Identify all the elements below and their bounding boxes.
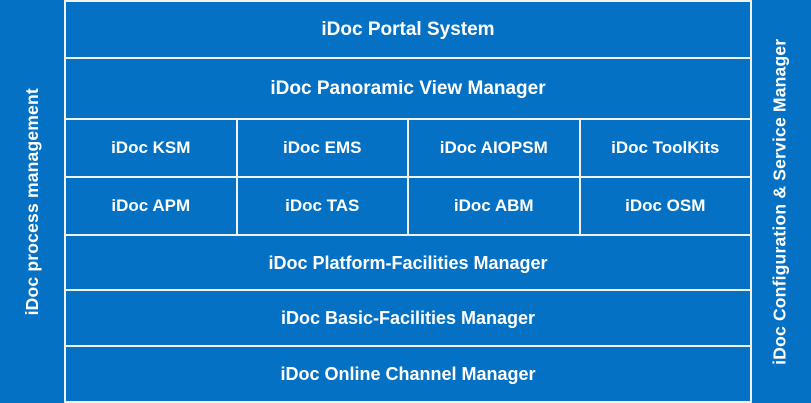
module-cell-aiopsm-label: iDoc AIOPSM <box>440 139 548 156</box>
layer-basic-facilities-manager-label: iDoc Basic-Facilities Manager <box>281 309 535 327</box>
module-cell-ksm[interactable]: iDoc KSM <box>66 120 238 176</box>
module-cell-ems[interactable]: iDoc EMS <box>238 120 410 176</box>
module-grid-row-1: iDoc KSM iDoc EMS iDoc AIOPSM iDoc ToolK… <box>66 120 750 178</box>
layer-platform-facilities-manager-label: iDoc Platform-Facilities Manager <box>268 254 547 272</box>
module-cell-tas[interactable]: iDoc TAS <box>238 178 410 234</box>
layer-platform-facilities-manager[interactable]: iDoc Platform-Facilities Manager <box>66 236 750 291</box>
layer-basic-facilities-manager[interactable]: iDoc Basic-Facilities Manager <box>66 291 750 346</box>
layer-panoramic-view-manager-label: iDoc Panoramic View Manager <box>270 79 545 98</box>
layer-stack: iDoc Portal System iDoc Panoramic View M… <box>66 0 750 403</box>
layer-panoramic-view-manager[interactable]: iDoc Panoramic View Manager <box>66 59 750 119</box>
module-cell-tas-label: iDoc TAS <box>285 197 359 214</box>
layer-online-channel-manager[interactable]: iDoc Online Channel Manager <box>66 347 750 401</box>
module-cell-apm[interactable]: iDoc APM <box>66 178 238 234</box>
module-cell-abm[interactable]: iDoc ABM <box>409 178 581 234</box>
layer-online-channel-manager-label: iDoc Online Channel Manager <box>280 365 535 383</box>
module-cell-abm-label: iDoc ABM <box>454 197 534 214</box>
module-cell-apm-label: iDoc APM <box>111 197 190 214</box>
module-cell-toolkits[interactable]: iDoc ToolKits <box>581 120 751 176</box>
left-rail-process-management: iDoc process management <box>0 0 66 403</box>
module-cell-ems-label: iDoc EMS <box>283 139 361 156</box>
layer-portal-system[interactable]: iDoc Portal System <box>66 2 750 59</box>
left-rail-label: iDoc process management <box>24 88 42 315</box>
right-rail-label: iDoc Configuration & Service Manager <box>772 38 790 364</box>
right-rail-configuration-service-manager: iDoc Configuration & Service Manager <box>750 0 811 403</box>
module-cell-aiopsm[interactable]: iDoc AIOPSM <box>409 120 581 176</box>
right-rail-divider <box>750 0 752 403</box>
module-cell-osm[interactable]: iDoc OSM <box>581 178 751 234</box>
module-cell-toolkits-label: iDoc ToolKits <box>611 139 719 156</box>
module-cell-ksm-label: iDoc KSM <box>111 139 190 156</box>
layer-portal-system-label: iDoc Portal System <box>321 20 494 39</box>
architecture-diagram: iDoc process management iDoc Portal Syst… <box>0 0 811 403</box>
module-grid-row-2: iDoc APM iDoc TAS iDoc ABM iDoc OSM <box>66 178 750 236</box>
module-cell-osm-label: iDoc OSM <box>625 197 705 214</box>
